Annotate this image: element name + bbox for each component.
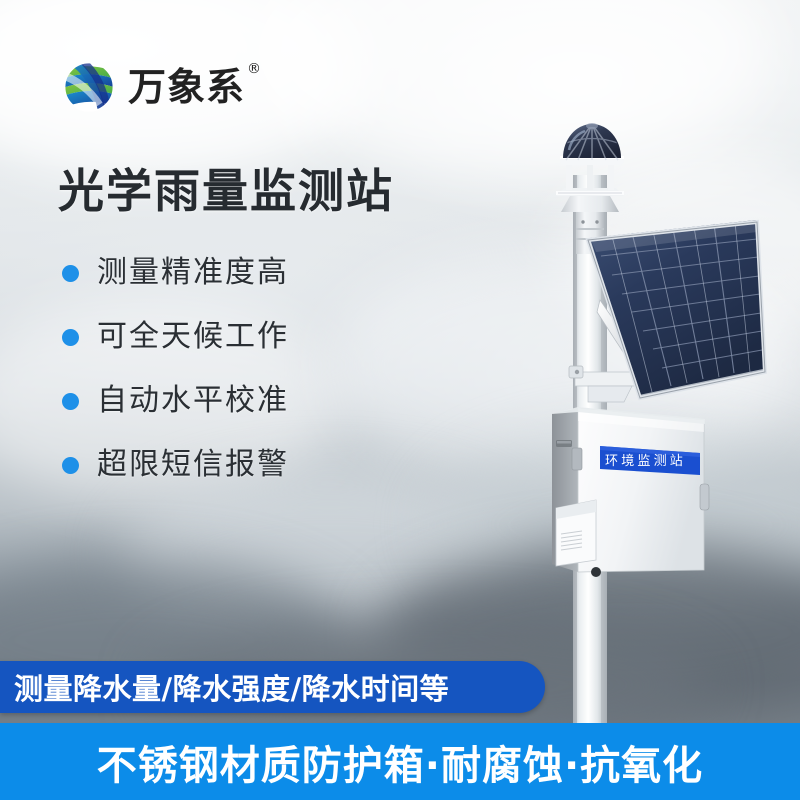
feature-label: 可全天候工作 (97, 322, 289, 352)
globe-swirl-logo-icon (60, 58, 118, 116)
feature-label: 自动水平校准 (97, 386, 289, 416)
registered-mark: ® (247, 62, 262, 76)
product-poster: 环境监测站 (0, 0, 800, 800)
feature-label: 超限短信报警 (97, 450, 289, 480)
feature-item: 测量精准度高 (62, 258, 289, 288)
capability-banner-text: 测量降水量/降水强度/降水时间等 (0, 666, 449, 708)
feature-item: 超限短信报警 (62, 450, 289, 480)
bullet-dot-icon (62, 329, 79, 346)
bullet-dot-icon (62, 457, 79, 474)
capability-banner: 测量降水量/降水强度/降水时间等 (0, 661, 545, 713)
brand-name-text: 万象系 (128, 65, 245, 109)
brand-logo: 万象系® (60, 58, 245, 116)
bullet-dot-icon (62, 265, 79, 282)
bottom-banner-text: 不锈钢材质防护箱·耐腐蚀·抗氧化 (97, 733, 703, 791)
brand-name: 万象系® (128, 68, 245, 106)
feature-list: 测量精准度高 可全天候工作 自动水平校准 超限短信报警 (62, 258, 289, 514)
page-title: 光学雨量监测站 (58, 166, 394, 217)
feature-item: 可全天候工作 (62, 322, 289, 352)
feature-item: 自动水平校准 (62, 386, 289, 416)
cloud-blob (250, 0, 770, 170)
feature-label: 测量精准度高 (97, 258, 289, 288)
bottom-banner: 不锈钢材质防护箱·耐腐蚀·抗氧化 (0, 723, 800, 800)
bullet-dot-icon (62, 393, 79, 410)
